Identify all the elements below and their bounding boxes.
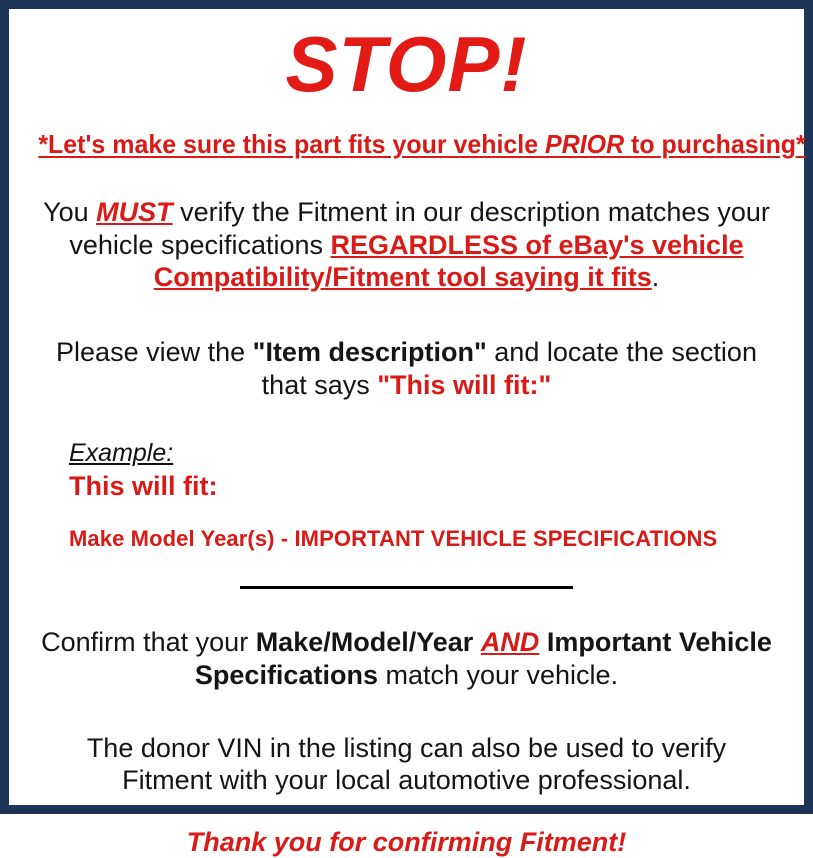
tagline-emphasis-prior: PRIOR (545, 129, 624, 159)
confirm-segment-1: Confirm that your (41, 627, 256, 657)
must-segment-1: You (43, 197, 96, 227)
paragraph-donor-vin: The donor VIN in the listing can also be… (23, 732, 790, 797)
thank-you-message: Thank you for confirming Fitment! (23, 827, 790, 858)
item-description-emphasis: "Item description" (253, 337, 487, 367)
and-emphasis: AND (481, 627, 540, 657)
make-model-year-emphasis: Make/Model/Year (256, 627, 474, 657)
fitment-notice-card: STOP! *Let's make sure this part fits yo… (0, 0, 813, 814)
paragraph-confirm-match: Confirm that your Make/Model/Year AND Im… (23, 626, 790, 691)
confirm-segment-4: match your vehicle. (378, 660, 618, 690)
tagline-suffix: to purchasing* (624, 129, 806, 159)
example-label-row: Example: (69, 439, 790, 468)
fitment-tagline: *Let's make sure this part fits your veh… (38, 129, 774, 160)
divider-wrap (23, 578, 790, 596)
horizontal-divider (240, 586, 573, 589)
example-block: Example: This will fit: Make Model Year(… (23, 439, 790, 552)
example-spec-line: Make Model Year(s) - IMPORTANT VEHICLE S… (69, 526, 790, 552)
example-fit-heading: This will fit: (69, 471, 790, 502)
stop-headline: STOP! (23, 25, 790, 103)
example-label: Example: (69, 439, 173, 468)
must-segment-3: . (652, 262, 660, 292)
confirm-segment-3 (539, 627, 547, 657)
must-emphasis: MUST (96, 197, 173, 227)
desc-segment-1: Please view the (56, 337, 253, 367)
paragraph-must-verify: You MUST verify the Fitment in our descr… (23, 196, 790, 294)
paragraph-item-description: Please view the "Item description" and l… (23, 336, 790, 401)
this-will-fit-emphasis: "This will fit:" (377, 370, 551, 400)
confirm-segment-2 (473, 627, 481, 657)
tagline-prefix: *Let's make sure this part fits your veh… (38, 129, 545, 159)
